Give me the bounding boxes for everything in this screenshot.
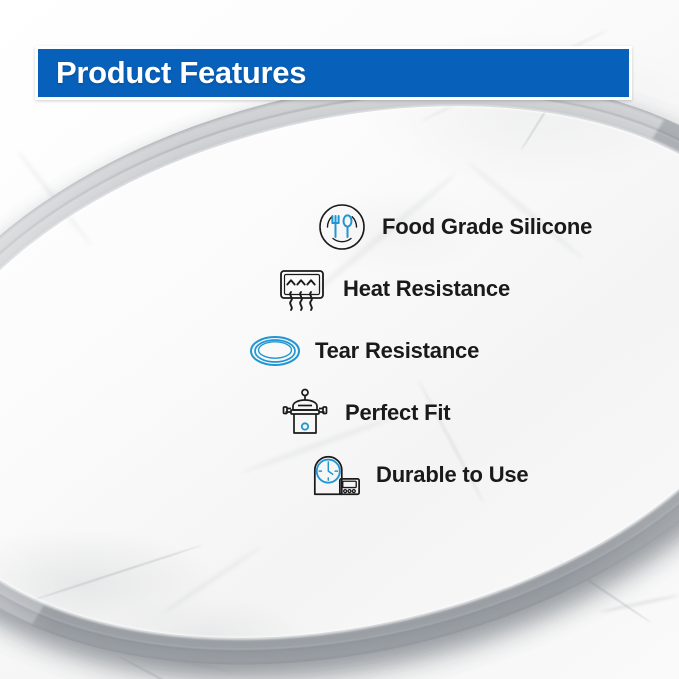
feature-label: Tear Resistance [315, 338, 479, 364]
fork-spoon-plate-icon [316, 201, 368, 253]
feature-item-food-grade-silicone: Food Grade Silicone [0, 196, 679, 258]
sealing-ring-icon [249, 325, 301, 377]
product-feature-infographic: Product Features Food G [0, 0, 679, 679]
feature-item-durable-to-use: Durable to Use [0, 444, 679, 506]
heat-waves-icon [277, 263, 329, 315]
feature-label: Heat Resistance [343, 276, 510, 302]
feature-label: Durable to Use [376, 462, 528, 488]
feature-list: Food Grade Silicone Heat [0, 196, 679, 506]
feature-item-heat-resistance: Heat Resistance [0, 258, 679, 320]
page-title: Product Features [38, 55, 306, 91]
feature-item-tear-resistance: Tear Resistance [0, 320, 679, 382]
feature-label: Food Grade Silicone [382, 214, 592, 240]
feature-item-perfect-fit: Perfect Fit [0, 382, 679, 444]
clock-appliance-icon [310, 449, 362, 501]
feature-label: Perfect Fit [345, 400, 450, 426]
header-banner: Product Features [35, 46, 632, 100]
pressure-cooker-icon [279, 387, 331, 439]
